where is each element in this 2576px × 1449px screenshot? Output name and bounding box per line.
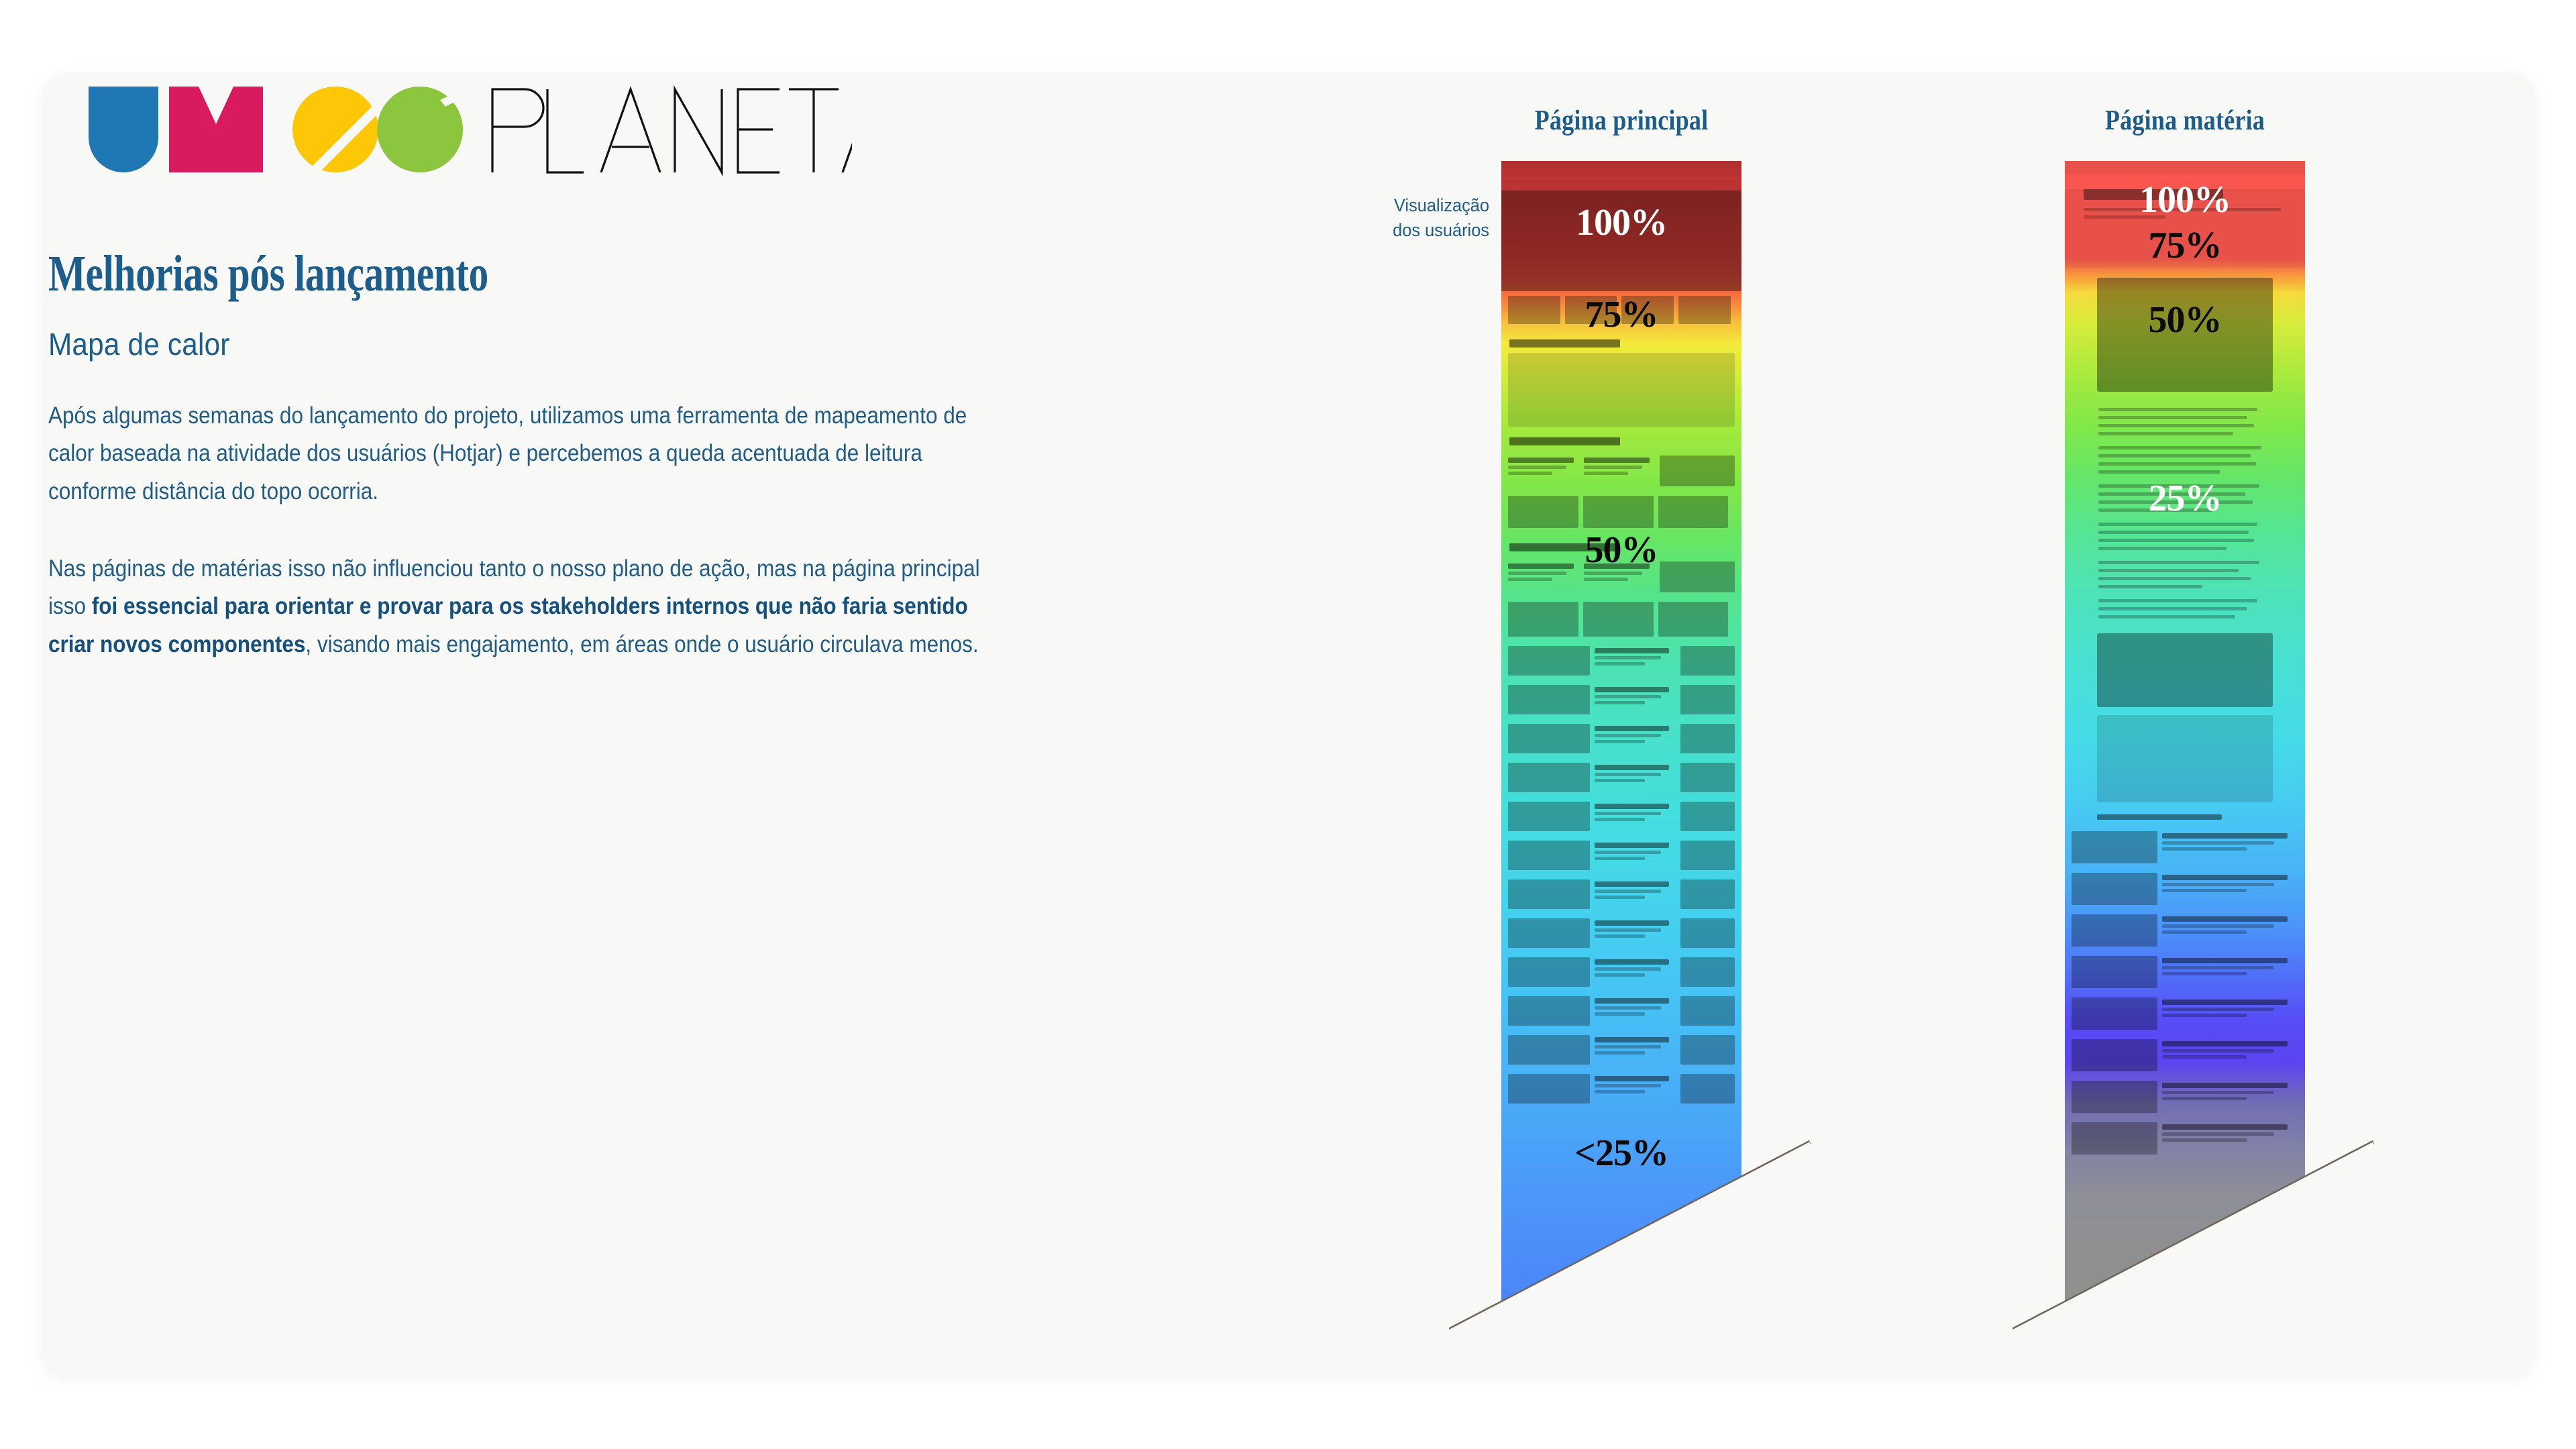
um-so-planeta-logo (47, 85, 852, 186)
slide-canvas: Melhorias pós lançamento Mapa de calor A… (0, 0, 2576, 1449)
heatmap-percent-pagina-principal-25: <25% (1574, 1132, 1668, 1175)
heatmap-side-label: Visualização dos usuários (1338, 193, 1489, 244)
heatmap-title-pagina-materia: Página matéria (2082, 105, 2288, 137)
heatmap-percent-pagina-principal-50: 50% (1585, 529, 1658, 572)
paragraph-2: Nas páginas de matérias isso não influen… (48, 550, 990, 664)
page-title: Melhorias pós lançamento (48, 248, 792, 301)
side-label-line-1: Visualização (1338, 193, 1489, 218)
paragraph-2-post: , visando mais engajamento, em áreas ond… (305, 631, 978, 657)
heatmap-percent-pagina-materia-75: 75% (2149, 224, 2222, 267)
heatmap-percent-pagina-principal-100: 100% (1576, 201, 1667, 244)
left-text-column: Melhorias pós lançamento Mapa de calor A… (48, 248, 1001, 664)
side-label-line-2: dos usuários (1338, 218, 1489, 243)
paragraph-1: Após algumas semanas do lançamento do pr… (48, 397, 990, 511)
heatmap-percent-pagina-principal-75: 75% (1585, 293, 1658, 336)
page-subtitle: Mapa de calor (48, 326, 924, 362)
heatmap-percent-pagina-materia-50: 50% (2149, 299, 2222, 341)
heatmap-percent-pagina-materia-100: 100% (2139, 178, 2231, 221)
heatmap-title-pagina-principal: Página principal (1518, 105, 1725, 137)
heatmap-percent-pagina-materia-25: 25% (2149, 477, 2222, 520)
